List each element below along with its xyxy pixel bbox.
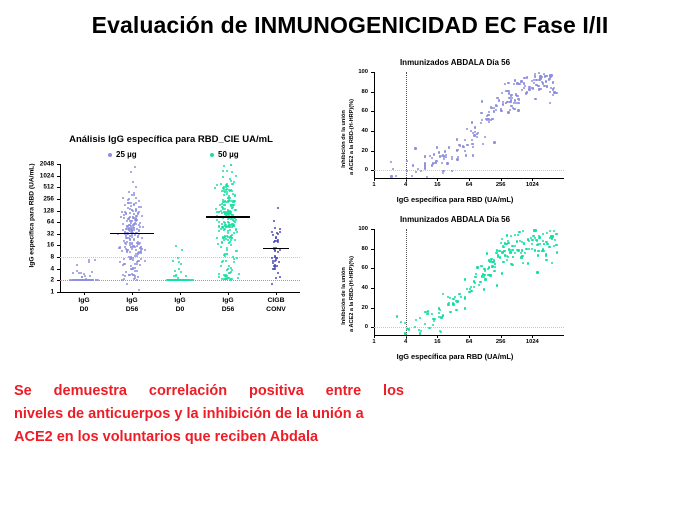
dotplot-data-point xyxy=(224,200,226,202)
scatter-x-tick-label: 64 xyxy=(466,182,472,188)
scatter-data-point xyxy=(537,254,539,256)
dotplot-y-tick-label: 64 xyxy=(14,219,54,226)
dotplot-y-tick-label: 2 xyxy=(14,277,54,284)
scatter-data-point xyxy=(542,240,544,242)
scatter-data-point xyxy=(536,239,538,241)
scatter-data-point xyxy=(442,293,444,295)
dotplot-data-point xyxy=(274,240,276,242)
scatter-data-point xyxy=(501,251,503,253)
dotplot-data-point xyxy=(237,277,239,279)
scatter-data-point xyxy=(518,231,520,233)
scatter-data-point xyxy=(536,271,538,273)
scatter-data-point xyxy=(514,245,516,247)
scatter-data-point xyxy=(505,102,507,104)
dotplot-data-point xyxy=(177,257,179,259)
scatter-data-point xyxy=(538,79,540,81)
dotplot-data-point xyxy=(222,260,224,262)
dotplot-data-point xyxy=(131,194,133,196)
scatter-data-point xyxy=(419,332,421,334)
scatter-data-point xyxy=(456,149,458,151)
dotplot-data-point xyxy=(126,283,128,285)
dotplot-data-point xyxy=(123,217,125,219)
scatter-y-tick-label: 80 xyxy=(330,246,368,252)
scatter-data-point xyxy=(526,91,528,93)
scatter-data-point xyxy=(495,104,497,106)
dotplot-data-point xyxy=(129,238,131,240)
dotplot-data-point xyxy=(130,205,132,207)
dotplot-data-point xyxy=(134,166,136,168)
scatter-data-point xyxy=(493,270,495,272)
dotplot-data-point xyxy=(133,194,135,196)
scatter-data-point xyxy=(521,255,523,257)
scatter-data-point xyxy=(534,249,536,251)
scatter-data-point xyxy=(523,77,525,79)
dotplot-data-point xyxy=(121,250,123,252)
scatter-data-point xyxy=(478,284,480,286)
scatter-data-point xyxy=(517,98,519,100)
scatter-data-point xyxy=(473,286,475,288)
scatter-data-point xyxy=(504,83,506,85)
scatter-data-point xyxy=(419,317,421,319)
scatter-data-point xyxy=(523,87,525,89)
scatter-data-point xyxy=(451,170,453,172)
scatter-data-point xyxy=(480,112,482,114)
dotplot-data-point xyxy=(129,212,131,214)
dotplot-data-point xyxy=(133,192,135,194)
scatter-data-point xyxy=(465,154,467,156)
dotplot-data-point xyxy=(231,171,233,173)
scatter-data-point xyxy=(507,242,509,244)
dotplot-data-point xyxy=(94,259,96,261)
dotplot-data-point xyxy=(227,185,229,187)
scatter-y-tick-label: 60 xyxy=(330,108,368,114)
dotplot-data-point xyxy=(221,190,223,192)
dotplot-data-point xyxy=(271,283,273,285)
scatter-data-point xyxy=(546,232,548,234)
scatter-data-point xyxy=(474,276,476,278)
dotplot-y-tick-mark xyxy=(57,211,60,212)
scatter-data-point xyxy=(509,249,511,251)
dotplot-data-point xyxy=(132,181,134,183)
scatter-x-tick-label: 256 xyxy=(496,339,506,345)
dotplot-data-point xyxy=(180,263,182,265)
scatter-x-tick-mark xyxy=(469,178,470,181)
dotplot-data-point xyxy=(229,272,231,274)
dotplot-data-point xyxy=(138,260,140,262)
dotplot-data-point xyxy=(125,243,127,245)
scatter-y-tick-mark xyxy=(371,288,374,289)
dotplot-data-point xyxy=(133,229,135,231)
dotplot-data-point xyxy=(218,225,220,227)
scatter-data-point xyxy=(502,261,504,263)
dotplot-data-point xyxy=(126,220,128,222)
scatter-data-point xyxy=(550,74,552,76)
dotplot-data-point xyxy=(88,261,90,263)
scatter-y-tick-mark xyxy=(371,92,374,93)
dotplot-data-point xyxy=(144,260,146,262)
dotplot-y-tick-label: 32 xyxy=(14,230,54,237)
dotplot-data-point xyxy=(84,275,86,277)
scatter-y-tick-mark xyxy=(371,229,374,230)
dotplot-data-point xyxy=(135,202,137,204)
scatter-data-point xyxy=(484,136,486,138)
scatter-data-point xyxy=(520,252,522,254)
scatter-data-point xyxy=(466,128,468,130)
scatter-data-point xyxy=(464,298,466,300)
scatter-data-point xyxy=(512,256,514,258)
dotplot-data-point xyxy=(140,258,142,260)
dotplot-median-bar xyxy=(206,216,250,217)
scatter-data-point xyxy=(404,322,406,324)
dotplot-data-point xyxy=(175,245,177,247)
dotplot-x-label-line2: D56 xyxy=(222,306,234,313)
scatter-data-point xyxy=(546,243,548,245)
scatter-data-point xyxy=(390,175,392,177)
scatter-x-tick-label: 16 xyxy=(434,182,440,188)
scatter-data-point xyxy=(420,170,422,172)
scatter-data-point xyxy=(452,303,454,305)
dotplot-y-tick-label: 1024 xyxy=(14,172,54,179)
scatter-y-tick-label: 80 xyxy=(330,89,368,95)
dotplot-gridline-8 xyxy=(60,257,300,258)
dotplot-data-point xyxy=(220,265,222,267)
scatter-data-point xyxy=(486,252,488,254)
dotplot-data-point xyxy=(136,270,138,272)
dotplot-x-label-line1: IgG xyxy=(126,297,137,304)
dotplot-data-point xyxy=(128,202,130,204)
dotplot-y-tick-mark xyxy=(57,176,60,177)
dotplot-data-point xyxy=(218,221,220,223)
scatter-data-point xyxy=(406,170,408,172)
scatter-data-point xyxy=(426,313,428,315)
scatter-data-point xyxy=(545,259,547,261)
scatter-data-point xyxy=(451,156,453,158)
dotplot-y-tick-mark xyxy=(57,199,60,200)
scatter-data-point xyxy=(539,243,541,245)
scatter-data-point xyxy=(472,146,474,148)
dotplot-data-point xyxy=(138,211,140,213)
scatter-data-point xyxy=(449,311,451,313)
scatter-data-point xyxy=(479,281,481,283)
dotplot-data-point xyxy=(236,257,238,259)
dotplot-data-point xyxy=(271,231,273,233)
dotplot-data-point xyxy=(279,249,281,251)
dotplot-data-point xyxy=(235,209,237,211)
scatter-data-point xyxy=(505,90,507,92)
scatter-data-point xyxy=(415,171,417,173)
dotplot-x-tick-mark xyxy=(180,292,181,295)
dotplot-data-point xyxy=(185,275,187,277)
dotplot-median-bar xyxy=(263,248,289,249)
dotplot-data-point xyxy=(129,251,131,253)
dotplot-data-point xyxy=(123,278,125,280)
dotplot-data-point xyxy=(134,267,136,269)
dotplot-y-tick-mark xyxy=(57,245,60,246)
dotplot-x-tick-mark xyxy=(132,292,133,295)
dotplot-data-point xyxy=(272,234,274,236)
dotplot-data-point xyxy=(218,276,220,278)
dotplot-data-point xyxy=(119,261,121,263)
scatter-data-point xyxy=(530,237,532,239)
scatter-data-point xyxy=(549,230,551,232)
scatter-data-point xyxy=(552,94,554,96)
dotplot-data-point xyxy=(139,242,141,244)
dotplot-data-point xyxy=(277,233,279,235)
scatter-data-point xyxy=(451,158,453,160)
dotplot-data-point xyxy=(136,263,138,265)
dotplot-data-point xyxy=(133,239,135,241)
scatter-data-point xyxy=(471,121,473,123)
dotplot-data-point xyxy=(133,224,135,226)
dotplot-data-point xyxy=(221,203,223,205)
dotplot-x-tick-mark xyxy=(276,292,277,295)
dotplot-data-point xyxy=(126,251,128,253)
dotplot-data-point xyxy=(228,200,230,202)
dotplot-y-tick-mark xyxy=(57,234,60,235)
scatter-data-point xyxy=(504,242,506,244)
scatter-data-point xyxy=(470,290,472,292)
scatter-y-tick-mark xyxy=(371,249,374,250)
dotplot-data-point xyxy=(222,176,224,178)
dotplot-data-point xyxy=(123,258,125,260)
scatter-data-point xyxy=(483,288,485,290)
scatter-data-point xyxy=(534,229,536,231)
dotplot-y-tick-label: 8 xyxy=(14,254,54,261)
dotplot-data-point xyxy=(275,277,277,279)
scatter-data-point xyxy=(545,80,547,82)
scatter-data-point xyxy=(456,138,458,140)
dotplot-data-point xyxy=(218,273,220,275)
scatter-y-tick-label: 0 xyxy=(330,324,368,330)
dotplot-data-point xyxy=(180,271,182,273)
scatter-x-tick-label: 4 xyxy=(404,182,407,188)
dotplot-x-category-label: IgGD0 xyxy=(78,297,89,314)
scatter-data-point xyxy=(455,309,457,311)
scatter-y-tick-mark xyxy=(371,111,374,112)
scatter-data-point xyxy=(539,75,541,77)
scatter-x-tick-mark xyxy=(501,335,502,338)
scatter-data-point xyxy=(411,175,413,177)
scatter-data-point xyxy=(523,82,525,84)
dotplot-data-point xyxy=(232,193,234,195)
scatter-data-point xyxy=(546,85,548,87)
dotplot-data-point xyxy=(230,164,232,166)
dotplot-data-point xyxy=(140,252,142,254)
scatter-x-tick-label: 1 xyxy=(372,182,375,188)
dotplot-data-point xyxy=(220,228,222,230)
dotplot-data-point xyxy=(139,226,141,228)
scatter-data-point xyxy=(440,316,442,318)
scatter-data-point xyxy=(480,122,482,124)
scatter-data-point xyxy=(392,168,394,170)
scatter-data-point xyxy=(488,266,490,268)
dotplot-data-point xyxy=(233,232,235,234)
scatter-data-point xyxy=(524,252,526,254)
scatter-data-point xyxy=(527,262,529,264)
scatter-data-point xyxy=(498,250,500,252)
dotplot-data-point xyxy=(133,204,135,206)
dotplot-data-point xyxy=(89,275,91,277)
dotplot-x-label-line1: IgG xyxy=(78,297,89,304)
scatter-bottom-plot-area: 0204060801001416642561024 xyxy=(330,215,580,370)
dotplot-y-tick-label: 256 xyxy=(14,195,54,202)
scatter-y-tick-label: 100 xyxy=(330,69,368,75)
conclusion-line-2: niveles de anticuerpos y la inhibición d… xyxy=(14,403,404,426)
scatter-data-point xyxy=(534,98,536,100)
scatter-data-point xyxy=(542,250,544,252)
scatter-y-tick-label: 60 xyxy=(330,265,368,271)
scatter-data-point xyxy=(444,150,446,152)
dotplot-data-point xyxy=(277,272,279,274)
dotplot-data-point xyxy=(272,268,274,270)
dotplot-y-tick-mark xyxy=(57,269,60,270)
scatter-data-point xyxy=(552,81,554,83)
scatter-data-point xyxy=(477,132,479,134)
scatter-data-point xyxy=(464,307,466,309)
dotplot-data-point xyxy=(174,270,176,272)
scatter-data-point xyxy=(472,154,474,156)
scatter-data-point xyxy=(510,263,512,265)
scatter-data-point xyxy=(531,248,533,250)
scatter-data-point xyxy=(510,235,512,237)
dotplot-data-point xyxy=(132,246,134,248)
dotplot-data-point xyxy=(124,263,126,265)
dotplot-data-point xyxy=(130,257,132,259)
dotplot-data-point xyxy=(125,271,127,273)
scatter-data-point xyxy=(470,130,472,132)
scatter-y-tick-label: 20 xyxy=(330,305,368,311)
scatter-y-tick-mark xyxy=(371,268,374,269)
dotplot-data-point xyxy=(216,237,218,239)
scatter-data-point xyxy=(543,85,545,87)
dotplot-data-point xyxy=(221,212,223,214)
dotplot-data-point xyxy=(88,259,90,261)
scatter-y-tick-label: 40 xyxy=(330,128,368,134)
scatter-x-tick-label: 16 xyxy=(434,339,440,345)
scatter-data-point xyxy=(443,158,445,160)
dotplot-data-point xyxy=(128,191,130,193)
scatter-y-tick-label: 0 xyxy=(330,167,368,173)
dotplot-data-point xyxy=(226,269,228,271)
scatter-x-tick-mark xyxy=(501,178,502,181)
dotplot-data-point xyxy=(134,275,136,277)
dotplot-data-point xyxy=(178,268,180,270)
dotplot-data-point xyxy=(144,249,146,251)
dotplot-data-point xyxy=(235,175,237,177)
scatter-y-axis xyxy=(374,229,375,335)
dotplot-data-point xyxy=(234,195,236,197)
dotplot-data-point xyxy=(136,245,138,247)
dotplot-data-point xyxy=(136,219,138,221)
scatter-data-point xyxy=(432,324,434,326)
scatter-data-point xyxy=(522,230,524,232)
dotplot-data-point xyxy=(224,204,226,206)
scatter-data-point xyxy=(548,246,550,248)
dotplot-data-point xyxy=(221,242,223,244)
scatter-data-point xyxy=(495,109,497,111)
scatter-data-point xyxy=(549,91,551,93)
scatter-data-point xyxy=(514,79,516,81)
scatter-x-tick-label: 4 xyxy=(404,339,407,345)
scatter-data-point xyxy=(474,126,476,128)
scatter-data-point xyxy=(502,246,504,248)
scatter-data-point xyxy=(556,251,558,253)
scatter-data-point xyxy=(532,87,534,89)
dotplot-data-point xyxy=(226,249,228,251)
dotplot-data-point xyxy=(272,262,274,264)
scatter-data-point xyxy=(438,312,440,314)
dotplot-y-tick-label: 4 xyxy=(14,265,54,272)
dotplot-data-point xyxy=(233,224,235,226)
scatter-data-point xyxy=(482,143,484,145)
dotplot-data-point xyxy=(121,211,123,213)
dotplot-data-point xyxy=(76,264,78,266)
scatter-data-point xyxy=(517,102,519,104)
scatter-data-point xyxy=(522,262,524,264)
dotplot-y-axis xyxy=(60,164,61,292)
scatter-data-point xyxy=(523,242,525,244)
scatter-data-point xyxy=(445,154,447,156)
scatter-data-point xyxy=(537,250,539,252)
scatter-data-point xyxy=(517,109,519,111)
dotplot-data-point xyxy=(233,261,235,263)
scatter-data-point xyxy=(487,268,489,270)
dotplot-data-point xyxy=(81,276,83,278)
dotplot-x-category-label: IgGD56 xyxy=(222,297,234,314)
dotplot-data-point xyxy=(234,239,236,241)
dotplot-data-point xyxy=(279,276,281,278)
dotplot-x-label-line1: IgG xyxy=(174,297,185,304)
scatter-data-point xyxy=(489,274,491,276)
scatter-data-point xyxy=(497,254,499,256)
scatter-data-point xyxy=(454,296,456,298)
dotplot-x-label-line1: IgG xyxy=(222,297,233,304)
dotplot-data-point xyxy=(140,206,142,208)
dotplot-data-point xyxy=(277,241,279,243)
dotplot-data-point xyxy=(136,242,138,244)
dotplot-y-tick-label: 16 xyxy=(14,242,54,249)
dotplot-x-label-line2: D0 xyxy=(176,306,185,313)
scatter-data-point xyxy=(446,162,448,164)
dotplot-data-point xyxy=(224,236,226,238)
scatter-data-point xyxy=(482,273,484,275)
dotplot-data-point xyxy=(223,221,225,223)
scatter-data-point xyxy=(506,234,508,236)
scatter-data-point xyxy=(432,318,434,320)
scatter-data-point xyxy=(488,111,490,113)
scatter-data-point xyxy=(539,88,541,90)
dotplot-y-tick-label: 1 xyxy=(14,289,54,296)
dotplot-data-point xyxy=(226,170,228,172)
dotplot-x-category-label: IgGD56 xyxy=(126,297,138,314)
dotplot-data-point xyxy=(223,274,225,276)
dotplot-data-point xyxy=(236,231,238,233)
dotplot-data-point xyxy=(135,186,137,188)
dotplot-data-point xyxy=(229,241,231,243)
dotplot-data-point xyxy=(279,231,281,233)
scatter-x-tick-label: 64 xyxy=(466,339,472,345)
dotplot-data-point xyxy=(141,237,143,239)
scatter-data-point xyxy=(480,265,482,267)
scatter-y-tick-mark xyxy=(371,151,374,152)
dotplot-chart: Análisis IgG específica para RBD_CIE UA/… xyxy=(14,134,314,319)
dotplot-data-point xyxy=(120,216,122,218)
scatter-data-point xyxy=(436,146,438,148)
scatter-data-point xyxy=(459,145,461,147)
scatter-data-point xyxy=(521,89,523,91)
scatter-data-point xyxy=(490,119,492,121)
scatter-data-point xyxy=(533,82,535,84)
